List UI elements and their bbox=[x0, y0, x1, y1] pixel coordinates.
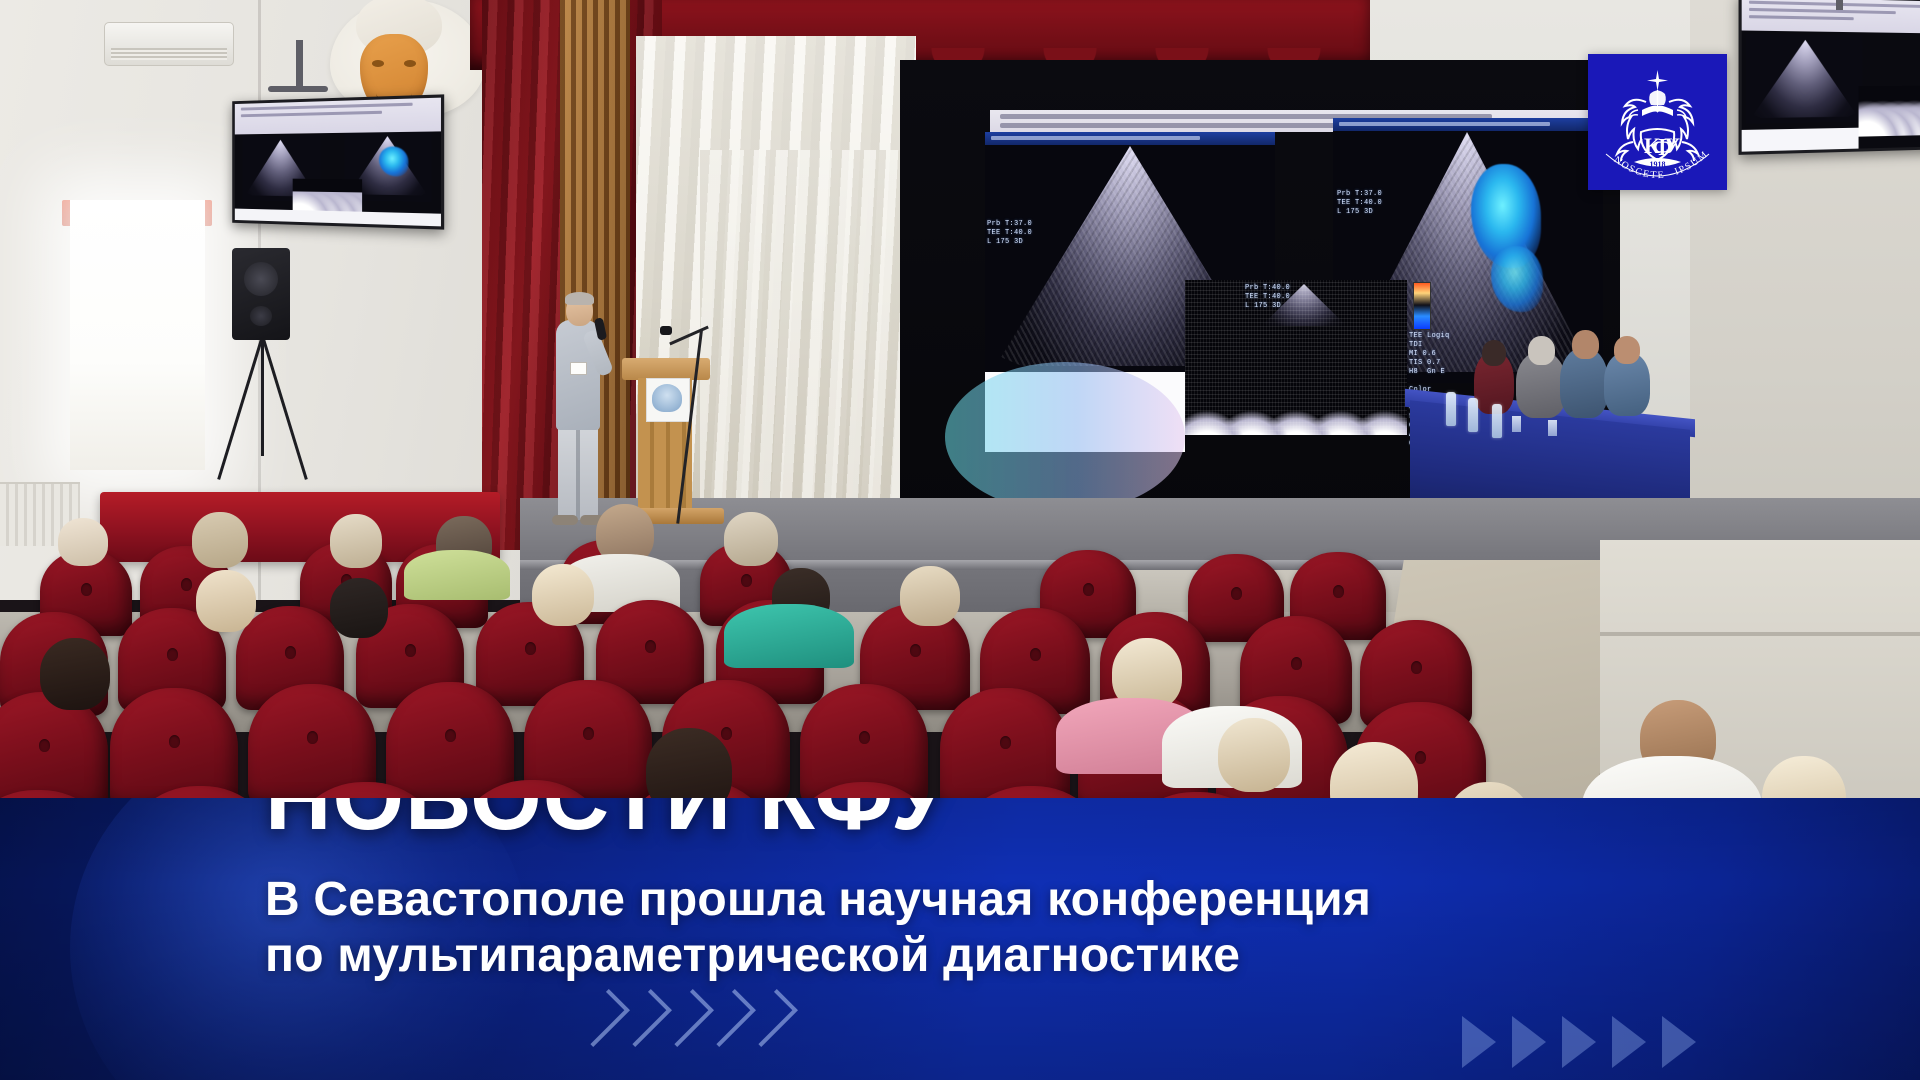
audience-shoulders bbox=[724, 604, 854, 668]
banner-text-block: НОВОСТИ КФУ В Севастополе прошла научная… bbox=[265, 798, 1665, 984]
presidium-person-head bbox=[1572, 330, 1599, 359]
slide-arc-graphic bbox=[945, 362, 1185, 512]
news-headline: В Севастополе прошла научная конференция… bbox=[265, 872, 1665, 984]
kfu-crest-logo: К Ф У 1918 NOSCE TE IPSUM bbox=[1588, 54, 1727, 190]
presenter-shoe bbox=[552, 515, 578, 525]
chevron-group-right bbox=[1462, 1016, 1696, 1068]
chevron-group-left bbox=[586, 992, 784, 1044]
logo-motto: NOSCE bbox=[1612, 154, 1652, 180]
water-bottle bbox=[1468, 398, 1478, 432]
triangle-right-icon bbox=[1512, 1016, 1546, 1068]
news-kicker: НОВОСТИ КФУ bbox=[265, 798, 1665, 844]
ultrasound-readout-right: Prb T:37.0TEE T:40.0L 175 3D bbox=[1337, 190, 1382, 217]
window-light bbox=[70, 200, 205, 470]
news-headline-line-2: по мультипараметрической диагностике bbox=[265, 928, 1665, 984]
wall-tv-left bbox=[232, 94, 444, 229]
doppler-color-scale bbox=[1413, 282, 1431, 330]
audience-head bbox=[1218, 718, 1290, 792]
triangle-right-icon bbox=[1462, 1016, 1496, 1068]
audience-head bbox=[330, 514, 382, 568]
audience-head bbox=[192, 512, 248, 568]
audience-head bbox=[58, 518, 108, 566]
logo-motto-mid: TE bbox=[1650, 170, 1666, 182]
presenter-hair bbox=[565, 292, 594, 305]
presenter-badge bbox=[570, 362, 587, 375]
presidium-person-head bbox=[1614, 336, 1640, 364]
echo-panel-title-right bbox=[1333, 118, 1603, 131]
audience-head bbox=[532, 564, 594, 626]
audience-head bbox=[900, 566, 960, 626]
spectral-doppler-panel: Prb T:40.0TEE T:40.0L 175 3D bbox=[1185, 280, 1407, 435]
water-bottle bbox=[1492, 404, 1502, 438]
audience-shoulders bbox=[404, 550, 510, 600]
tv-mount-right bbox=[1836, 0, 1843, 10]
microphone-head bbox=[660, 326, 672, 335]
water-glass bbox=[1512, 416, 1521, 432]
stage-drape-inner bbox=[700, 150, 900, 510]
water-glass bbox=[1548, 420, 1557, 436]
audience-head bbox=[196, 570, 256, 632]
svg-text:У: У bbox=[1664, 133, 1680, 158]
news-headline-line-1: В Севастополе прошла научная конференция bbox=[265, 872, 1665, 928]
svg-text:1918: 1918 bbox=[1650, 160, 1666, 169]
echo-panel-title-left bbox=[985, 132, 1275, 145]
triangle-right-icon bbox=[1662, 1016, 1696, 1068]
svg-text:TE: TE bbox=[1650, 170, 1666, 182]
pa-speaker bbox=[232, 248, 290, 340]
water-bottle bbox=[1446, 392, 1456, 426]
presidium-person-head bbox=[1482, 340, 1506, 366]
audience-head bbox=[724, 512, 778, 566]
slide-white-band bbox=[985, 372, 1185, 452]
presidium-person-head bbox=[1528, 336, 1555, 365]
triangle-right-icon bbox=[1612, 1016, 1646, 1068]
svg-text:NOSCE: NOSCE bbox=[1612, 154, 1652, 180]
presenter-legs bbox=[558, 425, 598, 520]
triangle-right-icon bbox=[1562, 1016, 1596, 1068]
audience-head bbox=[330, 578, 388, 638]
tv-mount-left bbox=[296, 40, 303, 90]
speaker-tripod bbox=[228, 336, 298, 486]
audience-head bbox=[40, 638, 110, 710]
ultrasound-readout-left: Prb T:37.0TEE T:40.0L 175 3D bbox=[987, 220, 1032, 247]
air-conditioner bbox=[104, 22, 234, 66]
wall-tv-right bbox=[1739, 0, 1920, 155]
podium-emblem-icon bbox=[652, 384, 682, 412]
news-banner: НОВОСТИ КФУ В Севастополе прошла научная… bbox=[0, 798, 1920, 1080]
news-banner-screenshot: Prb T:37.0TEE T:40.0L 175 3D Prb T:37.0T… bbox=[0, 0, 1920, 1080]
